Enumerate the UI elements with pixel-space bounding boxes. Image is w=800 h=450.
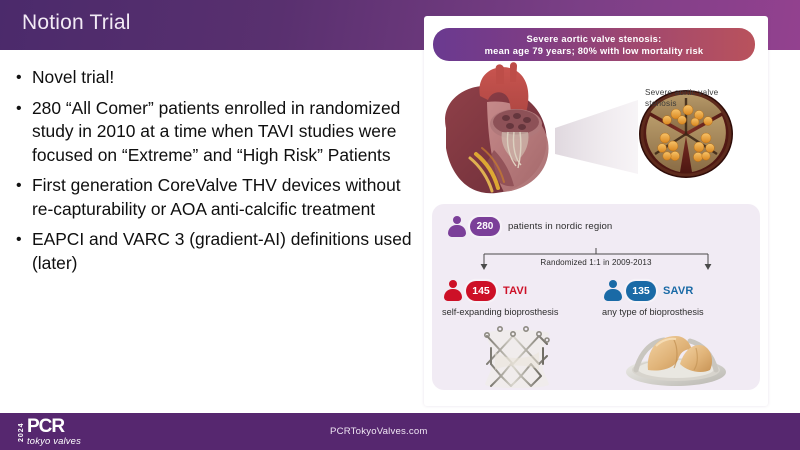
page-title: Notion Trial	[22, 11, 131, 35]
slide: Notion Trial • Novel trial! • 280 “All C…	[0, 0, 800, 450]
savr-count-badge: 135	[626, 281, 656, 301]
study-flow-diagram: 280 patients in nordic region Randomized…	[432, 204, 760, 390]
tavi-label: TAVI	[503, 285, 527, 297]
randomization-label: Randomized 1:1 in 2009-2013	[540, 258, 651, 267]
logo-pcr-text: PCR	[27, 418, 81, 435]
bullet-marker-icon: •	[16, 174, 32, 198]
tavi-count-badge: 145	[466, 281, 496, 301]
heart-callout-label: Severe aortic valve stenosis	[645, 88, 731, 109]
heart-illustration: Severe aortic valve stenosis	[424, 62, 768, 204]
tavi-description: self-expanding bioprosthesis	[442, 306, 592, 318]
randomization-connector: Randomized 1:1 in 2009-2013	[472, 248, 720, 274]
person-icon	[442, 280, 463, 301]
flow-total-row: 280 patients in nordic region	[446, 216, 612, 237]
surgical-bioprosthesis-valve-icon	[602, 326, 752, 388]
logo-year: 2024	[18, 420, 25, 444]
logo-subtitle: tokyo valves	[27, 435, 81, 446]
list-item: • EAPCI and VARC 3 (gradient-AI) definit…	[16, 228, 416, 275]
list-item: • Novel trial!	[16, 66, 416, 90]
bullet-list: • Novel trial! • 280 “All Comer” patient…	[16, 66, 416, 282]
bullet-marker-icon: •	[16, 66, 32, 90]
figure-card: Severe aortic valve stenosis: mean age 7…	[424, 16, 768, 406]
figure-banner-line1: Severe aortic valve stenosis:	[527, 33, 662, 45]
savr-label: SAVR	[663, 285, 694, 297]
figure-banner: Severe aortic valve stenosis: mean age 7…	[433, 28, 755, 61]
bullet-text: 280 “All Comer” patients enrolled in ran…	[32, 97, 416, 168]
bullet-text: First generation CoreValve THV devices w…	[32, 174, 416, 221]
person-icon	[602, 280, 623, 301]
savr-description: any type of bioprosthesis	[602, 306, 752, 318]
heart-anatomy-icon	[424, 62, 768, 204]
total-count-badge: 280	[470, 217, 500, 236]
arm-tavi: 145 TAVI self-expanding bioprosthesis	[442, 280, 592, 318]
total-caption: patients in nordic region	[508, 221, 612, 232]
list-item: • 280 “All Comer” patients enrolled in r…	[16, 97, 416, 168]
arm-savr: 135 SAVR any type of bioprosthesis	[602, 280, 752, 318]
pcr-tokyo-valves-logo: 2024 PCR tokyo valves	[18, 419, 81, 445]
bullet-marker-icon: •	[16, 228, 32, 252]
person-icon	[446, 216, 467, 237]
footer-url: PCRTokyoValves.com	[330, 426, 428, 437]
figure-banner-line2: mean age 79 years; 80% with low mortalit…	[485, 45, 704, 57]
list-item: • First generation CoreValve THV devices…	[16, 174, 416, 221]
bullet-marker-icon: •	[16, 97, 32, 121]
bullet-text: Novel trial!	[32, 66, 416, 90]
self-expanding-stent-valve-icon	[442, 326, 592, 388]
bullet-text: EAPCI and VARC 3 (gradient-AI) definitio…	[32, 228, 416, 275]
